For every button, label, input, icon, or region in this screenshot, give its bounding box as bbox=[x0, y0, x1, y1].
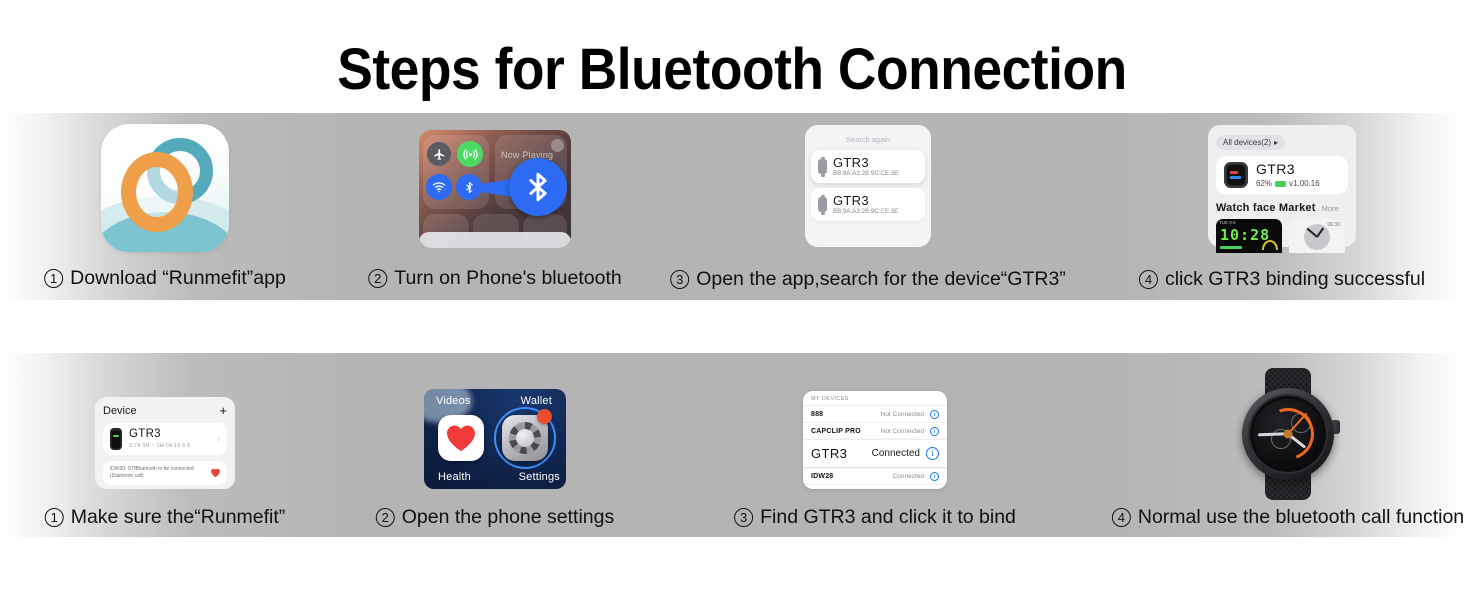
info-icon[interactable]: i bbox=[930, 489, 939, 490]
step-number: 2 bbox=[376, 508, 395, 527]
watch-icon bbox=[818, 159, 827, 174]
connection-state: Not Connected bbox=[881, 411, 930, 418]
app-label-health: Health bbox=[438, 471, 471, 483]
device-stats: 3.74 3H ~ 1H 04.16 6 6 bbox=[129, 443, 190, 449]
step-caption-text: Find GTR3 and click it to bind bbox=[760, 506, 1016, 529]
table-row[interactable]: 888 Not Connected i bbox=[803, 405, 947, 422]
device-name: GTR3 bbox=[1256, 162, 1320, 176]
sheet-edge bbox=[419, 232, 571, 248]
info-icon[interactable]: i bbox=[926, 447, 939, 460]
ios-bluetooth-my-devices: MY DEVICES 888 Not Connected i CAPCLIP P… bbox=[803, 391, 947, 489]
notification-badge bbox=[537, 409, 552, 424]
bluetooth-note-text: iDW20. STfBluetooth to be connected (Dal… bbox=[110, 466, 205, 480]
gtr3-watch-photo bbox=[1224, 368, 1352, 500]
watch-face-time: 10:28 bbox=[1220, 226, 1270, 244]
device-mac: BB:9A:A3:2B:9C:CE:3E bbox=[833, 171, 898, 177]
control-center-bluetooth: Now Playing bbox=[419, 130, 571, 248]
step-caption: 4 Normal use the bluetooth call function bbox=[1112, 506, 1464, 529]
step-caption-text: Download “Runmefit”app bbox=[70, 267, 286, 290]
step-number: 3 bbox=[734, 508, 753, 527]
connection-state: Not Connected bbox=[881, 428, 930, 435]
wifi-icon[interactable] bbox=[426, 174, 452, 200]
bound-device-row[interactable]: GTR3 62% v1.00.16 bbox=[1216, 156, 1348, 194]
step-card-binding-successful: All devices(2) ▸ GTR3 62% v1.00.16 bbox=[1075, 113, 1464, 300]
step-caption-text: click GTR3 binding successful bbox=[1165, 268, 1425, 291]
step-caption: 3 Find GTR3 and click it to bind bbox=[734, 506, 1016, 529]
watch-case bbox=[1242, 388, 1334, 480]
watch-face-thumb-digital[interactable]: TUE 8.9 10:28 bbox=[1216, 219, 1282, 253]
step-number: 3 bbox=[670, 270, 689, 289]
watch-face-market-title: Watch face Market bbox=[1216, 202, 1316, 214]
hand-pivot bbox=[1284, 430, 1293, 439]
step-number: 1 bbox=[44, 269, 63, 288]
step-caption: 2 Open the phone settings bbox=[376, 506, 615, 529]
orange-ring-icon bbox=[121, 152, 193, 232]
step-caption: 1 Download “Runmefit”app bbox=[44, 267, 286, 290]
device-name: GTR3 bbox=[811, 446, 847, 461]
step-caption-text: Normal use the bluetooth call function bbox=[1138, 506, 1464, 529]
device-name: GTR3 bbox=[833, 194, 898, 208]
step-caption-text: Open the app,search for the device“GTR3” bbox=[696, 268, 1066, 291]
steps-row-2: Device + GTR3 3.74 3H ~ 1H 04.16 6 6 › i… bbox=[0, 353, 1464, 537]
step-caption: 3 Open the app,search for the device“GTR… bbox=[670, 268, 1066, 291]
all-devices-pill[interactable]: All devices(2) ▸ bbox=[1216, 135, 1285, 150]
watch-face-header: TUE 8.9 bbox=[1219, 220, 1236, 225]
steps-row-1: 1 Download “Runmefit”app bbox=[0, 113, 1464, 300]
device-name: 888 bbox=[811, 411, 823, 418]
table-row[interactable]: IDW28 Connected i bbox=[803, 467, 947, 484]
app-device-panel: Device + GTR3 3.74 3H ~ 1H 04.16 6 6 › i… bbox=[95, 397, 235, 489]
airplay-icon[interactable] bbox=[551, 139, 564, 152]
device-name: GTR3 bbox=[129, 429, 190, 441]
gear-icon bbox=[509, 422, 541, 454]
add-device-button[interactable]: + bbox=[219, 404, 227, 417]
step-card-turn-on-bluetooth: Now Playing 2 Turn on Phone's bluetooth bbox=[330, 113, 660, 300]
step-caption: 4 click GTR3 binding successful bbox=[1139, 268, 1425, 291]
heart-icon bbox=[211, 468, 220, 477]
bluetooth-callout-icon bbox=[509, 158, 567, 216]
step-number: 4 bbox=[1112, 508, 1131, 527]
watch-icon bbox=[110, 428, 122, 450]
step-caption-text: Make sure the“Runmefit” bbox=[71, 506, 286, 529]
app-bound-device-page: All devices(2) ▸ GTR3 62% v1.00.16 bbox=[1208, 125, 1356, 247]
step-caption-text: Open the phone settings bbox=[402, 506, 615, 529]
device-name: CAPCLIP PRO bbox=[811, 428, 861, 435]
step-number: 2 bbox=[368, 269, 387, 288]
health-app-icon[interactable] bbox=[438, 415, 484, 461]
ios-home-screen: Videos Wallet Health Settings bbox=[424, 389, 566, 489]
search-result-row[interactable]: GTR3 BB:9A:A3:2B:9C:CE:3E bbox=[811, 150, 925, 183]
all-devices-label: All devices(2) bbox=[1223, 138, 1271, 147]
app-label-settings: Settings bbox=[519, 471, 560, 483]
chevron-right-icon: ▸ bbox=[1274, 138, 1278, 147]
step-card-download-app: 1 Download “Runmefit”app bbox=[0, 113, 330, 300]
search-result-row[interactable]: GTR3 BB:9A:A3:2B:9C:CE:3E bbox=[811, 188, 925, 221]
bluetooth-note-row[interactable]: iDW20. STfBluetooth to be connected (Dal… bbox=[103, 461, 227, 485]
watch-thumbnail-icon bbox=[1224, 162, 1248, 188]
device-name: GTR3 bbox=[833, 156, 898, 170]
watch-face-market-more[interactable]: More bbox=[1322, 204, 1339, 213]
connection-state: Connected bbox=[893, 473, 930, 480]
device-panel-title: Device bbox=[103, 405, 137, 417]
app-device-search-list: Search again GTR3 BB:9A:A3:2B:9C:CE:3E G… bbox=[805, 125, 931, 247]
chevron-right-icon: › bbox=[217, 435, 220, 444]
table-row-selected[interactable]: GTR3 Connected i bbox=[803, 439, 947, 467]
battery-percent: 62% bbox=[1256, 179, 1272, 188]
device-name: IDW28 bbox=[811, 473, 833, 480]
my-devices-title: MY DEVICES bbox=[803, 396, 947, 405]
airplane-mode-icon[interactable] bbox=[427, 142, 451, 166]
step-caption: 1 Make sure the“Runmefit” bbox=[45, 506, 286, 529]
step-card-open-settings: Videos Wallet Health Settings 2 Open the… bbox=[330, 353, 660, 537]
table-row[interactable]: CAPCLIP PRO Not Connected i bbox=[803, 422, 947, 439]
info-icon[interactable]: i bbox=[930, 427, 939, 436]
step-caption-text: Turn on Phone's bluetooth bbox=[394, 267, 621, 290]
page-title: Steps for Bluetooth Connection bbox=[59, 36, 1406, 103]
info-icon[interactable]: i bbox=[930, 472, 939, 481]
search-again-label[interactable]: Search again bbox=[811, 131, 925, 150]
step-card-make-sure-app: Device + GTR3 3.74 3H ~ 1H 04.16 6 6 › i… bbox=[0, 353, 330, 537]
watch-icon bbox=[818, 197, 827, 212]
step-card-find-gtr3: MY DEVICES 888 Not Connected i CAPCLIP P… bbox=[660, 353, 1075, 537]
step-card-bluetooth-call: 4 Normal use the bluetooth call function bbox=[1075, 353, 1464, 537]
info-icon[interactable]: i bbox=[930, 410, 939, 419]
watch-face2-time: 06:30 bbox=[1327, 222, 1340, 228]
connection-state: Connected bbox=[872, 448, 926, 459]
app-label-videos: Videos bbox=[436, 395, 471, 407]
watch-face-thumb-analog[interactable]: 06:30 bbox=[1289, 219, 1345, 253]
app-label-wallet: Wallet bbox=[521, 395, 552, 407]
table-row[interactable]: IDW28 Connected i bbox=[803, 484, 947, 489]
device-row[interactable]: GTR3 3.74 3H ~ 1H 04.16 6 6 › bbox=[103, 423, 227, 455]
step-number: 4 bbox=[1139, 270, 1158, 289]
step-number: 1 bbox=[45, 508, 64, 527]
device-mac: BB:9A:A3:2B:9C:CE:3E bbox=[833, 209, 898, 215]
battery-icon bbox=[1275, 181, 1286, 187]
cellular-data-icon[interactable] bbox=[457, 141, 483, 167]
runmefit-app-icon bbox=[101, 124, 229, 252]
firmware-version: v1.00.16 bbox=[1289, 179, 1320, 188]
step-card-search-device: Search again GTR3 BB:9A:A3:2B:9C:CE:3E G… bbox=[660, 113, 1075, 300]
step-caption: 2 Turn on Phone's bluetooth bbox=[368, 267, 621, 290]
